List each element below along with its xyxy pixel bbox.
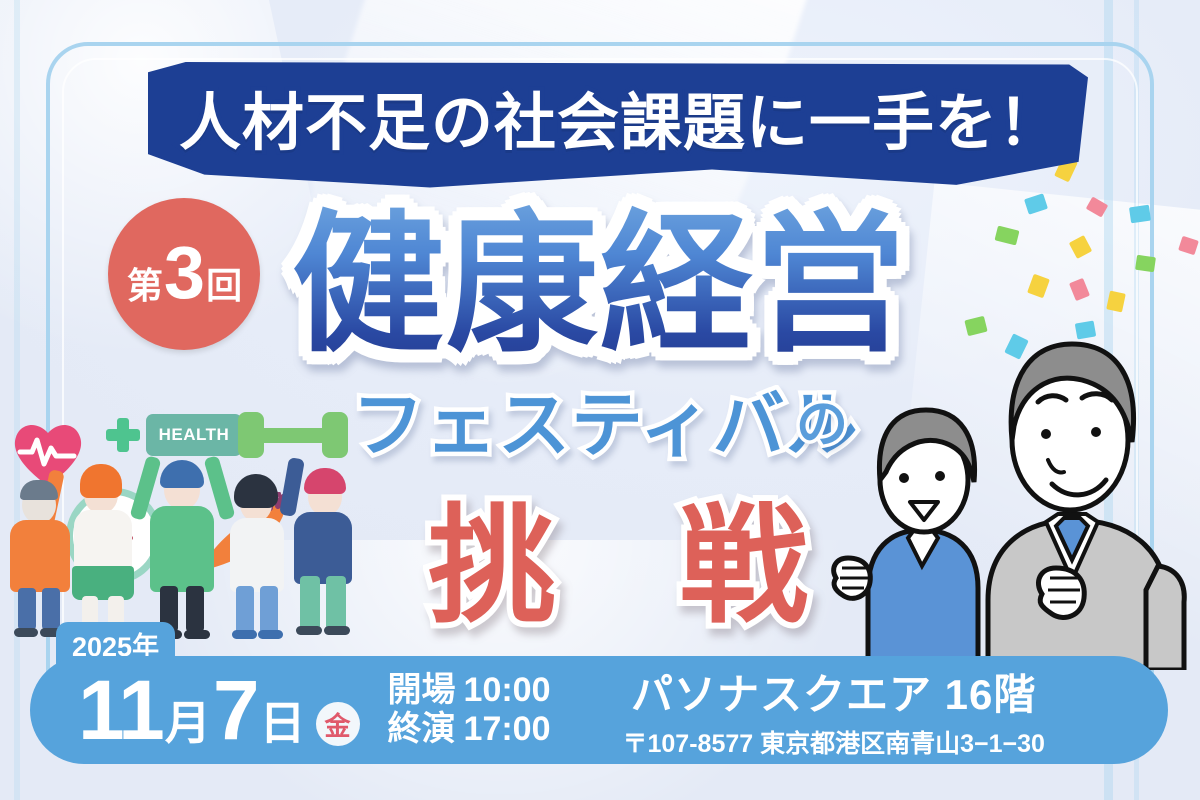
venue-address: 〒107-8577 東京都港区南青山3−1−30 — [623, 724, 1045, 760]
event-venue: パソナスクエア 16階 〒107-8577 東京都港区南青山3−1−30 — [623, 661, 1045, 760]
man-figure — [988, 344, 1184, 670]
person-body — [294, 512, 352, 584]
person-body — [10, 520, 70, 592]
event-time-close: 終演17:00 — [388, 710, 551, 749]
person-shoe — [324, 626, 350, 635]
person-skirt — [72, 566, 134, 600]
day-of-week-badge: 金 — [316, 702, 360, 746]
person-hair — [20, 480, 58, 500]
person-shoe — [258, 630, 283, 639]
event-day-number: 7 — [213, 668, 258, 752]
confetti-piece — [1106, 291, 1126, 313]
person-hair — [160, 460, 204, 488]
illustration-health-people: HEALTH — [0, 400, 370, 650]
event-time-open: 開場10:00 — [388, 671, 551, 710]
title-sub: フェスティバル — [352, 366, 859, 471]
event-time-open-label: 開場 — [388, 671, 456, 709]
confetti-piece — [1178, 236, 1199, 256]
event-date: 11 月 7 日 金 — [78, 668, 360, 753]
event-poster: 人材不足の社会課題に一手を！ 第 3 回 健康経営 フェスティバル の 挑 戦 … — [0, 0, 1200, 800]
plus-icon — [106, 418, 140, 452]
confetti-piece — [1135, 255, 1156, 272]
confetti-piece — [1129, 205, 1151, 224]
woman-figure — [834, 410, 978, 660]
person-hair — [234, 474, 278, 508]
person-shoe — [296, 626, 322, 635]
person-shoe — [232, 630, 257, 639]
person-leg — [260, 586, 278, 634]
edition-prefix: 第 — [127, 257, 162, 309]
confetti-piece — [995, 226, 1020, 246]
event-time-close-value: 17:00 — [464, 710, 551, 748]
confetti-piece — [1069, 235, 1092, 259]
confetti-piece — [1027, 274, 1050, 299]
person-arm — [279, 457, 305, 517]
person-leg — [18, 588, 36, 630]
health-label: HEALTH — [159, 425, 230, 445]
event-time-close-label: 終演 — [388, 710, 456, 748]
confetti-piece — [1069, 278, 1090, 301]
venue-name: パソナスクエア 16階 — [623, 661, 1045, 722]
person-hair — [304, 468, 346, 494]
dumbbell-icon — [238, 410, 348, 462]
poster-headline: 人材不足の社会課題に一手を！ — [150, 72, 1090, 162]
title-keyword: 挑 戦 — [428, 462, 852, 647]
person-leg — [42, 588, 60, 630]
event-times: 開場10:00 終演17:00 — [388, 671, 551, 750]
illustration-business-couple — [820, 330, 1200, 670]
edition-badge: 第 3 回 — [108, 198, 260, 350]
person-shoe — [184, 630, 210, 639]
confetti-piece — [1024, 193, 1048, 214]
person-leg — [186, 586, 204, 632]
event-day-unit: 日 — [260, 687, 306, 753]
person-body — [150, 506, 214, 592]
person-hair — [80, 464, 122, 498]
person-leg — [236, 586, 254, 634]
illustration-person — [68, 462, 144, 638]
person-leg — [326, 576, 346, 630]
person-body — [230, 518, 284, 592]
person-shoe — [14, 628, 38, 637]
event-info-content: 11 月 7 日 金 開場10:00 終演17:00 パソナスクエア 16階 〒… — [30, 656, 1168, 764]
event-month-number: 11 — [78, 668, 163, 752]
illustration-person — [136, 444, 232, 640]
person-leg — [300, 576, 320, 630]
edition-suffix: 回 — [206, 257, 241, 309]
title-main-text: 健康経営 — [292, 161, 908, 381]
event-month-unit: 月 — [165, 687, 211, 753]
event-time-open-value: 10:00 — [464, 671, 551, 709]
edition-number: 3 — [164, 240, 204, 307]
illustration-person — [282, 458, 358, 640]
